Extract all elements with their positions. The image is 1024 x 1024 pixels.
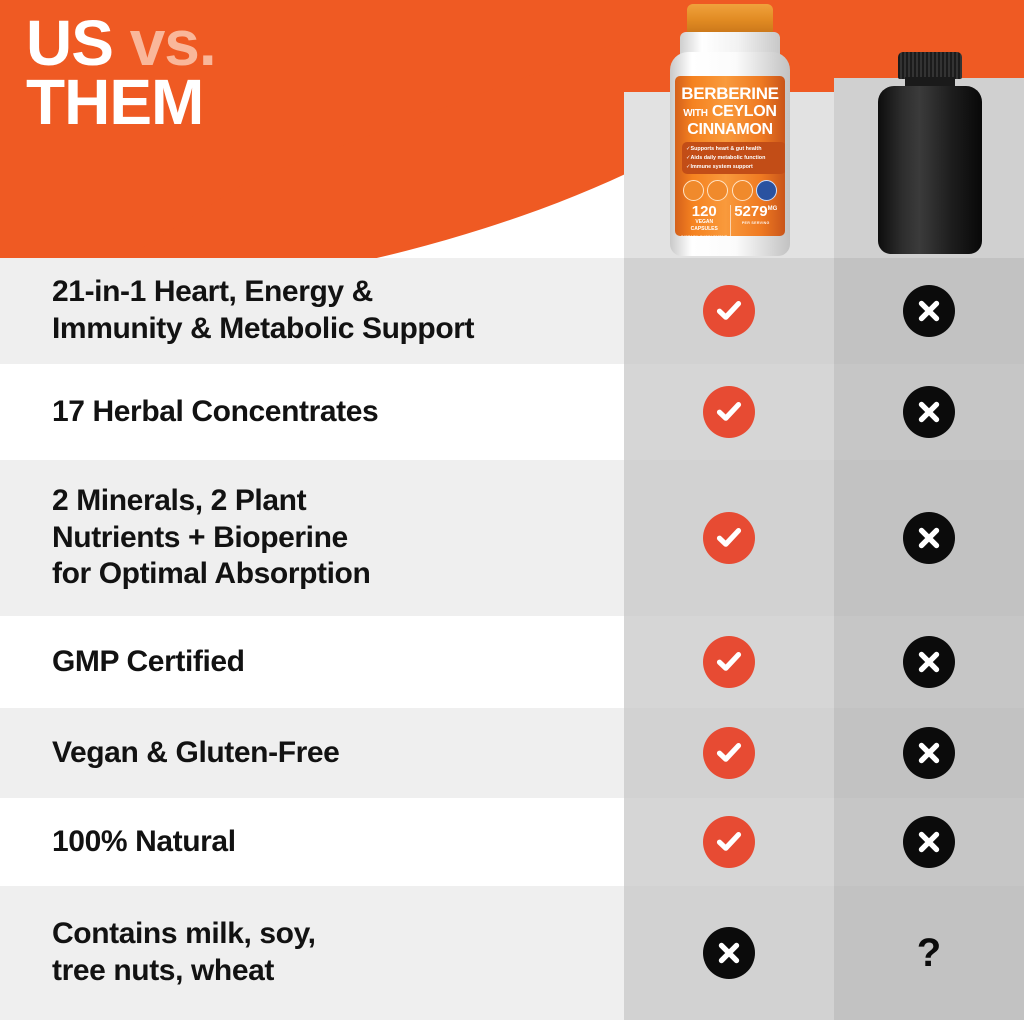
table-row: 100% Natural [0, 798, 1024, 886]
comparison-table: 21-in-1 Heart, Energy &Immunity & Metabo… [0, 258, 1024, 1020]
feature-label: Contains milk, soy,tree nuts, wheat [52, 916, 316, 989]
feature-label: 2 Minerals, 2 PlantNutrients + Bioperine… [52, 483, 370, 593]
check-icon [703, 285, 755, 337]
competitor-bottle-cap [898, 52, 962, 79]
feature-cell: 21-in-1 Heart, Energy &Immunity & Metabo… [0, 258, 624, 364]
competitor-bottle-body [878, 86, 982, 254]
per-serving-label: PER SERVING [731, 221, 782, 225]
title-them: THEM [26, 73, 216, 132]
product-benefit-list: ✓Supports heart & gut health ✓Aids daily… [682, 142, 785, 174]
feature-cell: Contains milk, soy,tree nuts, wheat [0, 886, 624, 1020]
table-row: 2 Minerals, 2 PlantNutrients + Bioperine… [0, 460, 1024, 616]
them-result-cell [834, 460, 1024, 616]
feature-cell: 2 Minerals, 2 PlantNutrients + Bioperine… [0, 460, 624, 616]
page-title: US vs. THEM [26, 14, 216, 132]
them-result-cell [834, 708, 1024, 798]
product-title-with: WITH [683, 108, 707, 119]
us-result-cell [624, 708, 834, 798]
feature-cell: Vegan & Gluten-Free [0, 708, 624, 798]
check-icon [703, 636, 755, 688]
table-row: GMP Certified [0, 616, 1024, 708]
us-result-cell [624, 258, 834, 364]
feature-label: Vegan & Gluten-Free [52, 735, 339, 772]
certification-badges [683, 180, 777, 201]
them-result-cell [834, 616, 1024, 708]
comparison-infographic: US vs. THEM PrimeMD BERBERINE WITH CEYLO… [0, 0, 1024, 1024]
dietary-supplement-label: DIETARY SUPPLEMENT [679, 235, 730, 237]
feature-cell: 17 Herbal Concentrates [0, 364, 624, 460]
product-title-ceylon-word: CEYLON [712, 103, 777, 120]
feature-label: 17 Herbal Concentrates [52, 394, 378, 431]
benefit-item: ✓Supports heart & gut health [686, 145, 782, 154]
cross-icon [903, 512, 955, 564]
capsule-count-value: 120 [679, 204, 730, 219]
cross-icon [903, 816, 955, 868]
product-stats: 120 VEGAN CAPSULES DIETARY SUPPLEMENT 52… [679, 204, 781, 236]
cross-icon [903, 386, 955, 438]
benefit-item: ✓Immune system support [686, 163, 782, 172]
dose-number: 5279 [734, 203, 767, 220]
feature-cell: 100% Natural [0, 798, 624, 886]
check-icon [703, 512, 755, 564]
table-row: 17 Herbal Concentrates [0, 364, 1024, 460]
question-mark-icon: ? [917, 933, 941, 973]
cross-icon [903, 636, 955, 688]
us-result-cell [624, 886, 834, 1020]
capsule-count-label-1: VEGAN [679, 220, 730, 226]
bottle-cap [687, 4, 773, 34]
them-result-cell [834, 258, 1024, 364]
cross-icon [903, 727, 955, 779]
usa-badge-icon [756, 180, 777, 201]
product-bottle-primemd: PrimeMD BERBERINE WITH CEYLON CINNAMON ✓… [664, 4, 796, 256]
check-icon [703, 816, 755, 868]
lab-tested-badge-icon [732, 180, 753, 201]
product-title-cinnamon: CINNAMON [675, 121, 785, 139]
check-icon [703, 727, 755, 779]
capsule-count-label-2: CAPSULES [679, 227, 730, 233]
product-title-berberine: BERBERINE [675, 84, 785, 104]
dose-stat: 5279MG PER SERVING [731, 204, 782, 225]
feature-cell: GMP Certified [0, 616, 624, 708]
vegan-badge-icon [683, 180, 704, 201]
check-icon [703, 386, 755, 438]
cross-icon [903, 285, 955, 337]
dose-value: 5279MG [731, 204, 782, 219]
dose-unit: MG [768, 206, 778, 212]
us-result-cell [624, 616, 834, 708]
them-result-cell: ? [834, 886, 1024, 1020]
capsule-count-stat: 120 VEGAN CAPSULES DIETARY SUPPLEMENT [679, 204, 730, 236]
title-line-one: US vs. [26, 14, 216, 73]
feature-label: 100% Natural [52, 824, 236, 861]
us-result-cell [624, 460, 834, 616]
cross-icon [703, 927, 755, 979]
them-result-cell [834, 364, 1024, 460]
competitor-bottle [878, 52, 982, 254]
us-result-cell [624, 798, 834, 886]
table-row: Contains milk, soy,tree nuts, wheat? [0, 886, 1024, 1020]
product-title-ceylon: WITH CEYLON [675, 103, 785, 121]
gmp-badge-icon [707, 180, 728, 201]
feature-label: GMP Certified [52, 644, 245, 681]
table-row: 21-in-1 Heart, Energy &Immunity & Metabo… [0, 258, 1024, 364]
benefit-item: ✓Aids daily metabolic function [686, 154, 782, 163]
feature-label: 21-in-1 Heart, Energy &Immunity & Metabo… [52, 274, 474, 347]
us-result-cell [624, 364, 834, 460]
bottle-label: PrimeMD BERBERINE WITH CEYLON CINNAMON ✓… [675, 76, 785, 236]
them-result-cell [834, 798, 1024, 886]
table-row: Vegan & Gluten-Free [0, 708, 1024, 798]
hero-banner: US vs. THEM PrimeMD BERBERINE WITH CEYLO… [0, 0, 1024, 300]
